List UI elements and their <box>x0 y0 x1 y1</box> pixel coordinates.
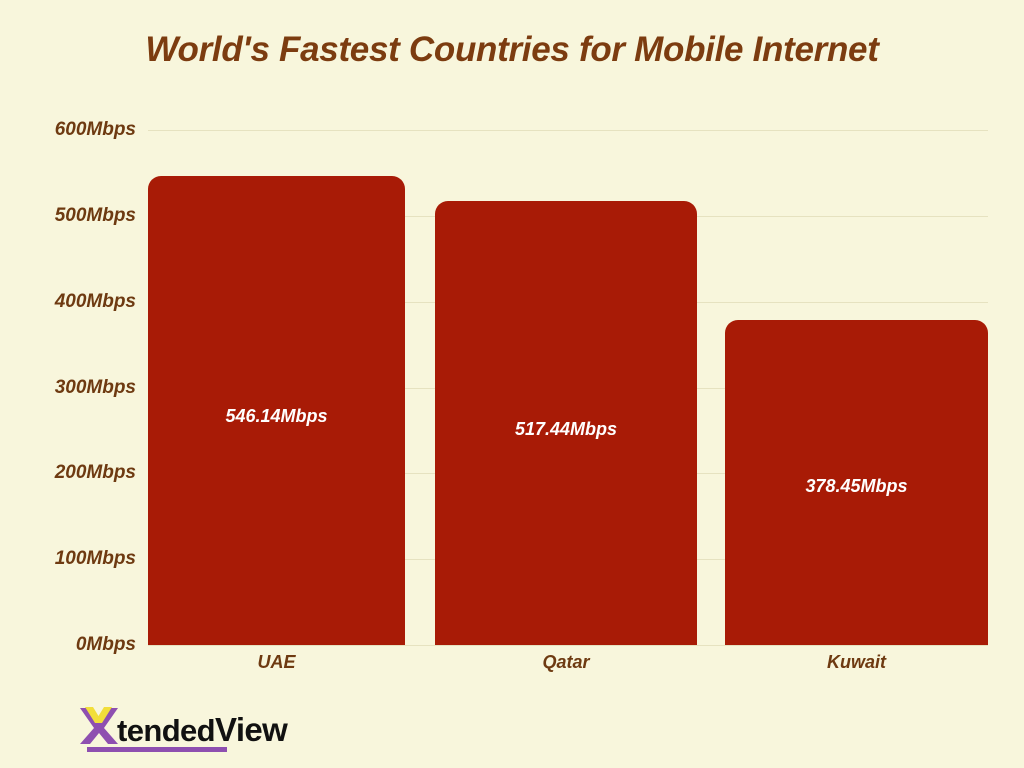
logo-text-tended: tended <box>117 715 215 746</box>
x-tick-uae: UAE <box>148 652 405 673</box>
bar-kuwait[interactable]: 378.45Mbps <box>725 320 988 645</box>
x-tick-kuwait: Kuwait <box>725 652 988 673</box>
bar-qatar[interactable]: 517.44Mbps <box>435 201 697 645</box>
brand-logo[interactable]: tended View <box>78 702 287 746</box>
bar-uae[interactable]: 546.14Mbps <box>148 176 405 645</box>
infographic-canvas: World's Fastest Countries for Mobile Int… <box>0 0 1024 768</box>
bar-value-uae: 546.14Mbps <box>148 406 405 427</box>
bar-value-qatar: 517.44Mbps <box>435 419 697 440</box>
x-tick-qatar: Qatar <box>435 652 697 673</box>
bar-value-kuwait: 378.45Mbps <box>725 476 988 497</box>
x-axis: UAE Qatar Kuwait <box>0 652 1024 684</box>
logo-underline <box>87 747 227 752</box>
logo-text-view: View <box>215 713 287 746</box>
logo-wordmark: tended View <box>117 713 287 746</box>
x-logo-icon <box>78 704 120 746</box>
